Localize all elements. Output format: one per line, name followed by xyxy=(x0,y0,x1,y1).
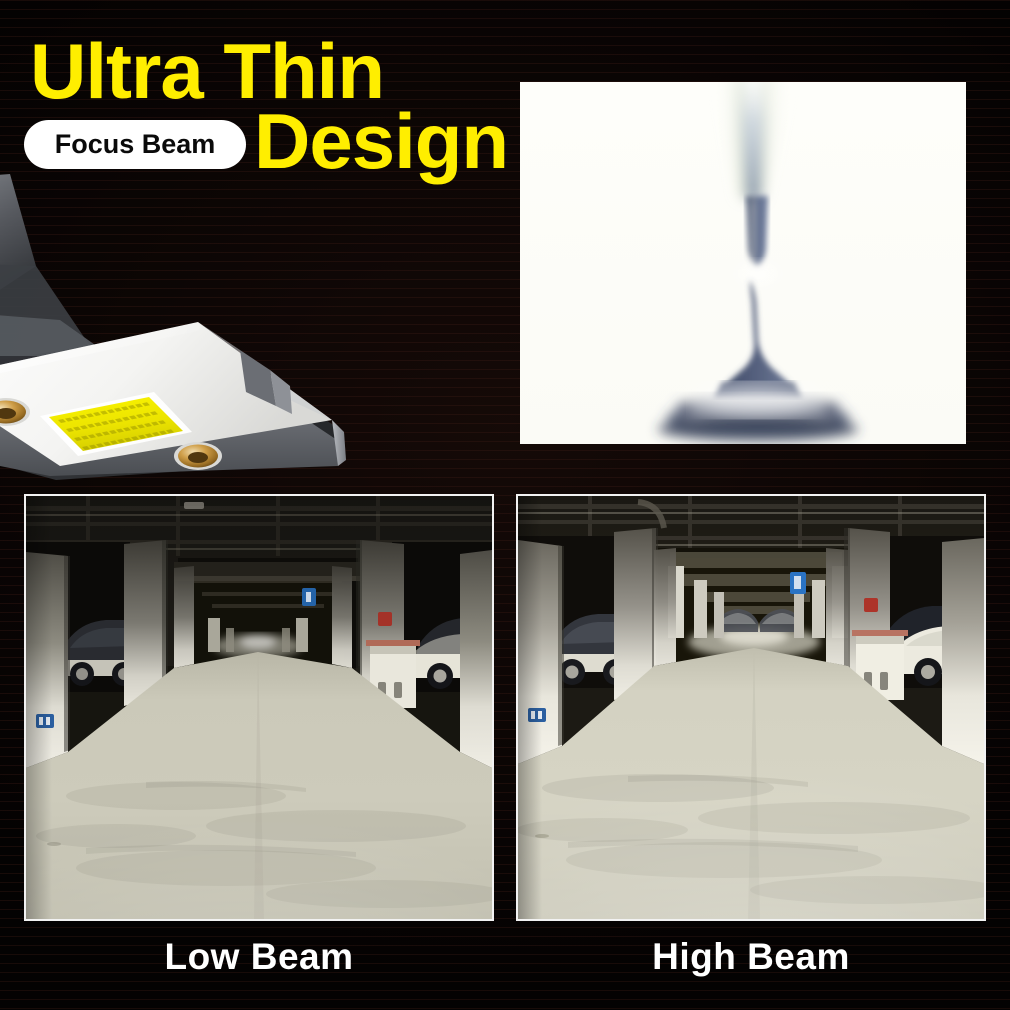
headline-block: Ultra Thin Design Focus Beam xyxy=(0,0,520,190)
high-beam-label: High Beam xyxy=(516,936,986,978)
screw-hole-right xyxy=(174,442,222,470)
focus-beam-badge-label: Focus Beam xyxy=(55,129,216,160)
low-beam-photo xyxy=(24,494,494,921)
led-bulb-render xyxy=(0,170,410,480)
product-marketing-image: Ultra Thin Design Focus Beam xyxy=(0,0,1010,1010)
focus-beam-badge: Focus Beam xyxy=(24,120,246,169)
headline-line-2: Design xyxy=(254,102,508,180)
low-beam-label: Low Beam xyxy=(24,936,494,978)
beam-focus-photo xyxy=(520,82,966,444)
high-beam-photo xyxy=(516,494,986,921)
